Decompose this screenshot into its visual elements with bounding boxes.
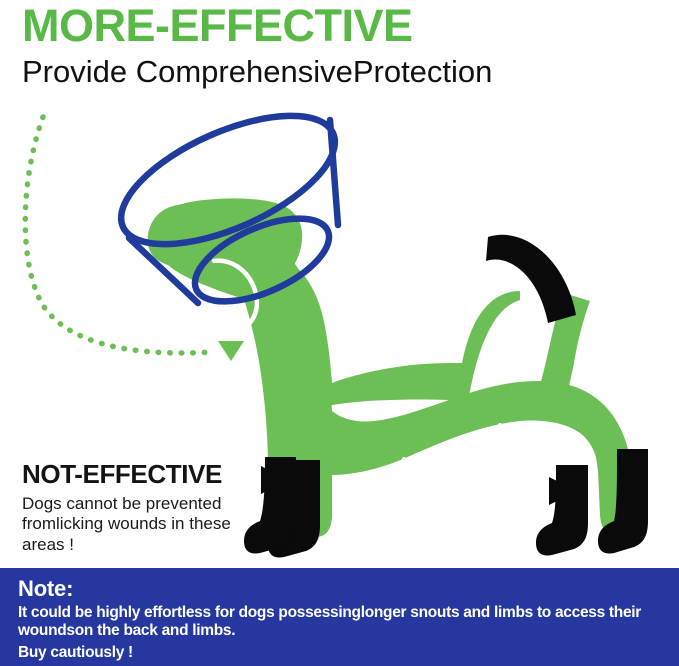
infographic-poster: MORE-EFFECTIVE Provide ComprehensiveProt… xyxy=(0,0,679,666)
note-body: It could be highly effortless for dogs p… xyxy=(18,604,663,641)
page-subtitle: Provide ComprehensiveProtection xyxy=(22,55,662,89)
not-effective-title: NOT-EFFECTIVE xyxy=(22,460,272,489)
page-title: MORE-EFFECTIVE xyxy=(22,2,662,49)
note-cta: Buy cautiously ! xyxy=(18,644,663,662)
not-effective-block: NOT-EFFECTIVE Dogs cannot be prevented f… xyxy=(22,460,272,556)
header: MORE-EFFECTIVE Provide ComprehensiveProt… xyxy=(22,2,662,89)
not-effective-body: Dogs cannot be prevented fromlicking wou… xyxy=(22,494,254,556)
note-title: Note: xyxy=(18,577,663,602)
note-banner: Note: It could be highly effortless for … xyxy=(0,568,679,666)
